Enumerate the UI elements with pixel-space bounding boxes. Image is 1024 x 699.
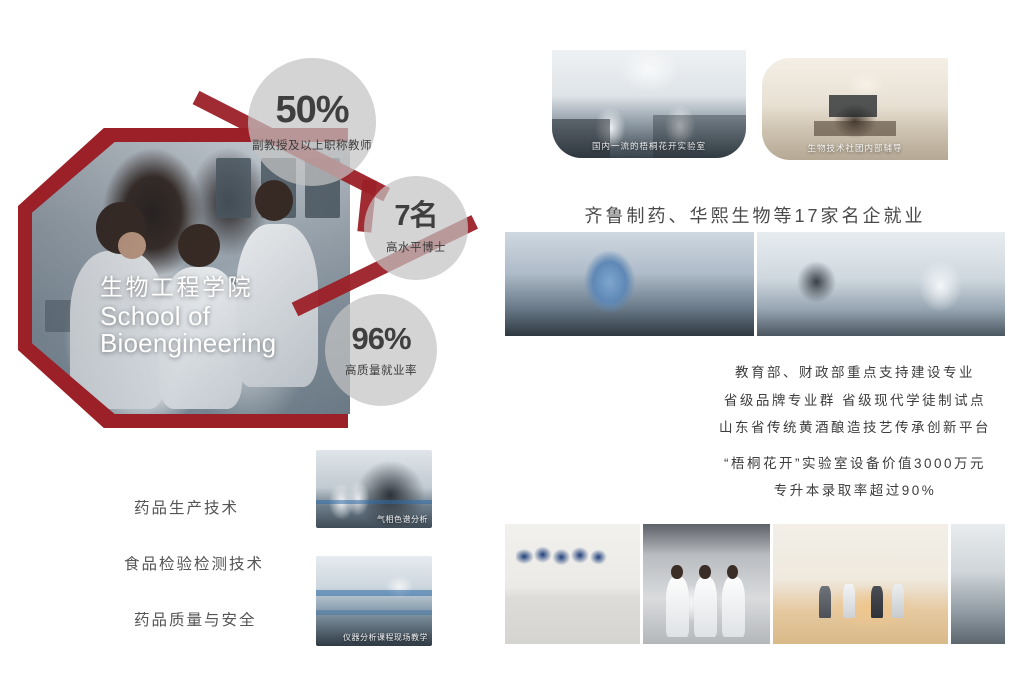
credential-line-1: 教育部、财政部重点支持建设专业 bbox=[700, 366, 1010, 380]
photo-biotech-club-tutoring: 生物技术社团内部辅导 bbox=[762, 58, 948, 160]
credentials-text-block: 教育部、财政部重点支持建设专业 省级品牌专业群 省级现代学徒制试点 山东省传统黄… bbox=[700, 366, 1010, 512]
program-item-2: 食品检验检测技术 bbox=[124, 552, 264, 574]
stat-caption: 高质量就业率 bbox=[345, 362, 417, 378]
thumbnail-caption: 仪器分析课程现场教学 bbox=[343, 632, 428, 643]
stat-caption: 高水平博士 bbox=[386, 239, 446, 255]
photo-wutong-lab: 国内一流的梧桐花开实验室 bbox=[552, 50, 746, 158]
mid-photo-strip bbox=[505, 232, 1005, 336]
credential-line-4: “梧桐花开”实验室设备价值3000万元 bbox=[700, 457, 1010, 471]
bottom-photo-strip bbox=[505, 524, 1005, 644]
thumbnail-caption: 气相色谱分析 bbox=[377, 514, 428, 525]
photo-caption: 国内一流的梧桐花开实验室 bbox=[592, 140, 706, 152]
photo-cleanroom-worker bbox=[505, 232, 754, 336]
stat-number: 96% bbox=[351, 323, 410, 354]
photo-caption: 生物技术社团内部辅导 bbox=[807, 142, 902, 154]
photo-instrument-operator bbox=[757, 232, 1006, 336]
photo-students-doorway bbox=[643, 524, 770, 644]
stat-circle-employment: 96% 高质量就业率 bbox=[325, 294, 437, 406]
stat-number: 50% bbox=[275, 91, 348, 129]
stat-circle-faculty: 50% 副教授及以上职称教师 bbox=[248, 58, 376, 186]
employment-headline: 齐鲁制药、华熙生物等17家名企就业 bbox=[505, 202, 1005, 228]
thumbnail-instrument-analysis-class: 仪器分析课程现场教学 bbox=[316, 556, 432, 646]
poster-canvas: 50% 副教授及以上职称教师 7名 高水平博士 96% 高质量就业率 生物工程学… bbox=[0, 0, 1024, 699]
credential-line-2: 省级品牌专业群 省级现代学徒制试点 bbox=[700, 394, 1010, 408]
program-item-1: 药品生产技术 bbox=[134, 496, 239, 518]
credential-line-3: 山东省传统黄酒酿造技艺传承创新平台 bbox=[700, 421, 1010, 435]
stat-number: 7名 bbox=[394, 202, 437, 231]
thumbnail-gas-chromatography: 气相色谱分析 bbox=[316, 450, 432, 528]
photo-glass-corridor bbox=[951, 524, 1005, 644]
stat-caption: 副教授及以上职称教师 bbox=[252, 137, 372, 153]
program-item-3: 药品质量与安全 bbox=[134, 608, 257, 630]
credential-line-5: 专升本录取率超过90% bbox=[700, 484, 1010, 498]
photo-calligraphy-wall bbox=[505, 524, 640, 644]
stat-circle-doctors: 7名 高水平博士 bbox=[364, 176, 468, 280]
photo-lounge-interior bbox=[773, 524, 948, 644]
